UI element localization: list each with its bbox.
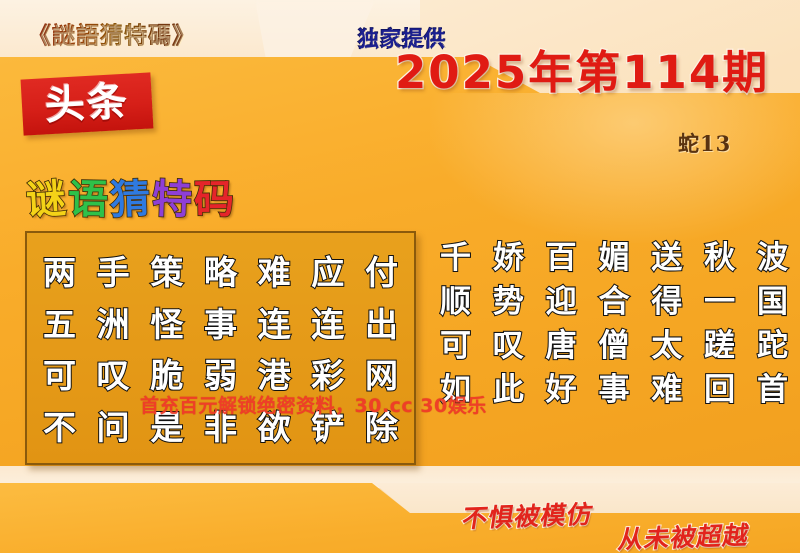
section-title: 谜 语 猜 特 码 xyxy=(26,180,234,220)
verse-line: 顺 势 迎 合 得 一 国 xyxy=(440,287,788,318)
riddle-char: 叹 xyxy=(97,359,130,392)
section-title-char: 语 xyxy=(68,180,109,221)
riddle-char: 可 xyxy=(43,359,76,392)
verse-char: 太 xyxy=(651,331,682,362)
riddle-char: 弱 xyxy=(204,359,237,392)
verse-char: 可 xyxy=(440,331,471,362)
riddle-char: 非 xyxy=(204,411,237,444)
section-title-char: 猜 xyxy=(109,179,150,220)
riddle-line: 两 手 策 略 难 应 付 xyxy=(43,256,398,289)
issue-title: 2025年第114期 xyxy=(395,50,769,95)
poster-canvas: 《謎語猜特碼》 头条 谜 语 猜 特 码 独家提供 2025年第114期 蛇13… xyxy=(0,0,800,553)
verse-char: 跎 xyxy=(757,331,788,362)
riddle-line: 不 问 是 非 欲 铲 除 xyxy=(43,411,398,444)
riddle-char: 不 xyxy=(43,411,76,444)
riddle-line: 五 洲 怪 事 连 连 出 xyxy=(43,308,398,341)
verse-char: 事 xyxy=(598,375,629,406)
verse-char: 好 xyxy=(546,375,577,406)
riddle-char: 手 xyxy=(97,256,130,289)
verse-char: 此 xyxy=(493,375,524,406)
verse-char: 回 xyxy=(704,375,735,406)
verse-char: 娇 xyxy=(493,243,524,274)
verse-char: 合 xyxy=(598,287,629,318)
verse-char: 僧 xyxy=(598,331,629,362)
section-title-char: 码 xyxy=(194,180,235,221)
riddle-char: 两 xyxy=(43,256,76,289)
verse-char: 迎 xyxy=(546,287,577,318)
riddle-char: 脆 xyxy=(150,359,183,392)
riddle-char: 策 xyxy=(150,256,183,289)
riddle-char: 略 xyxy=(204,256,237,289)
section-title-char: 谜 xyxy=(25,179,67,221)
verse-char: 送 xyxy=(651,243,682,274)
verse-char: 波 xyxy=(757,243,788,274)
headline-badge-label: 头条 xyxy=(44,82,130,127)
riddle-char: 连 xyxy=(258,308,291,341)
headline-badge: 头条 xyxy=(21,72,154,135)
riddle-char: 难 xyxy=(258,256,291,289)
verse-char: 如 xyxy=(440,375,471,406)
riddle-char: 洲 xyxy=(97,308,130,341)
riddle-char: 怪 xyxy=(150,308,183,341)
verse-char: 一 xyxy=(704,287,735,318)
riddle-char: 港 xyxy=(258,359,291,392)
verse-char: 秋 xyxy=(704,243,735,274)
section-title-char: 特 xyxy=(151,179,192,220)
riddle-char: 五 xyxy=(43,308,76,341)
riddle-char: 出 xyxy=(365,308,398,341)
riddle-char: 网 xyxy=(365,359,398,392)
verse-char: 叹 xyxy=(493,331,524,362)
riddle-char: 问 xyxy=(97,411,130,444)
riddle-char: 欲 xyxy=(258,411,291,444)
riddle-char: 连 xyxy=(311,308,344,341)
riddle-char: 是 xyxy=(150,411,183,444)
verse-char: 得 xyxy=(651,287,682,318)
riddle-char: 应 xyxy=(311,256,344,289)
riddle-panel: 两 手 策 略 难 应 付 五 洲 怪 事 连 连 出 可 叹 脆 弱 港 彩 … xyxy=(25,231,416,465)
riddle-char: 付 xyxy=(365,256,398,289)
verse-line: 可 叹 唐 僧 太 蹉 跎 xyxy=(440,331,788,362)
riddle-char: 铲 xyxy=(311,411,344,444)
zodiac-hint: 蛇13 xyxy=(678,128,731,158)
slogan-right: 从未被超越 xyxy=(616,516,753,553)
verse-block: 千 娇 百 媚 送 秋 波 顺 势 迎 合 得 一 国 可 叹 唐 僧 太 蹉 … xyxy=(440,243,788,406)
verse-char: 蹉 xyxy=(704,331,735,362)
verse-char: 国 xyxy=(757,287,788,318)
riddle-line: 可 叹 脆 弱 港 彩 网 xyxy=(43,359,398,392)
verse-char: 难 xyxy=(651,375,682,406)
slogan-left: 不惧被模仿 xyxy=(460,495,597,536)
riddle-char: 事 xyxy=(204,308,237,341)
verse-char: 千 xyxy=(440,243,471,274)
verse-char: 势 xyxy=(493,287,524,318)
verse-char: 唐 xyxy=(546,331,577,362)
riddle-char: 除 xyxy=(365,411,398,444)
verse-line: 如 此 好 事 难 回 首 xyxy=(440,375,788,406)
verse-line: 千 娇 百 媚 送 秋 波 xyxy=(440,243,788,274)
verse-char: 百 xyxy=(546,243,577,274)
verse-char: 媚 xyxy=(598,243,629,274)
verse-char: 首 xyxy=(757,375,788,406)
verse-char: 顺 xyxy=(440,287,471,318)
riddle-char: 彩 xyxy=(311,359,344,392)
page-title: 《謎語猜特碼》 xyxy=(28,16,196,50)
